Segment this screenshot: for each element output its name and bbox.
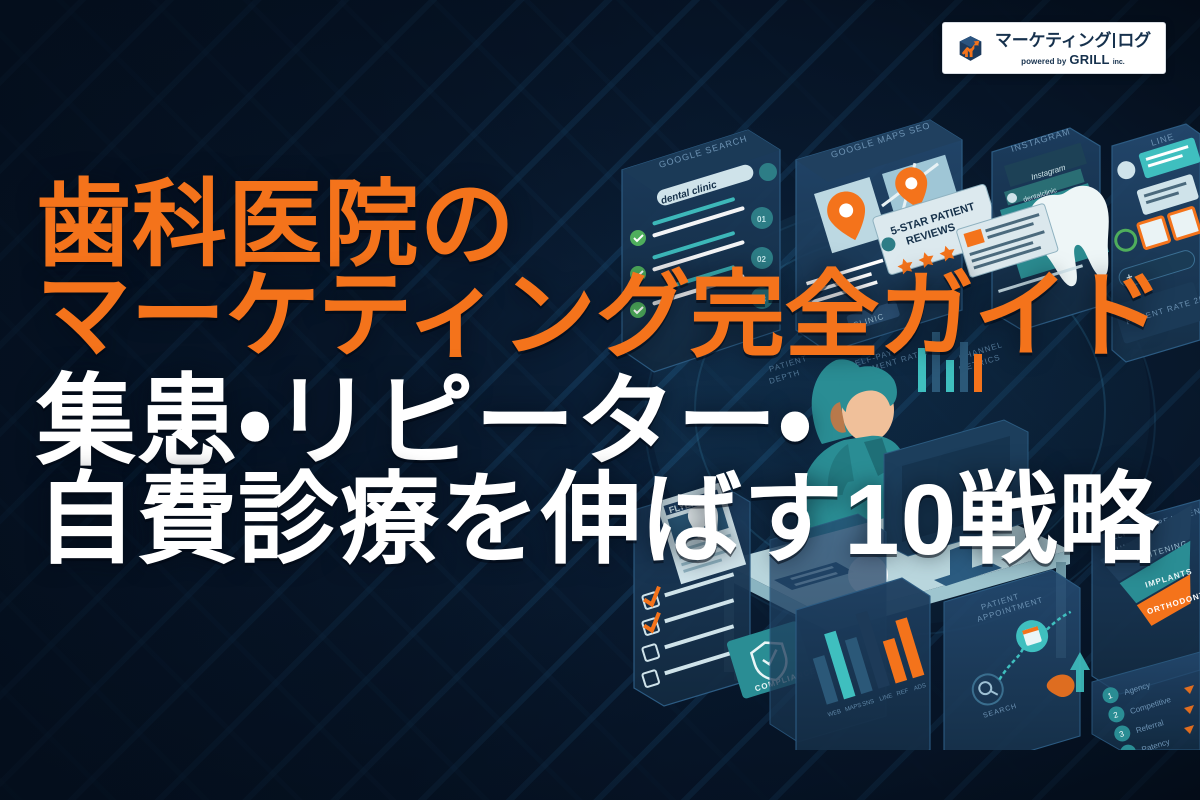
- growth-arrow-cube-icon: [955, 33, 986, 64]
- logo-separator: [1113, 33, 1115, 48]
- hero-banner: GOOGLE SEARCH dental clinic: [0, 0, 1200, 800]
- logo-inc-suffix: inc.: [1113, 59, 1125, 66]
- headline-block: 歯科医院の マーケティング完全ガイド 集患・リピーター・ 自費診療を伸ばす10戦…: [36, 176, 1186, 572]
- logo-sub-line: powered by GRILL inc.: [1021, 53, 1125, 66]
- logo-powered-by: powered by: [1021, 58, 1066, 66]
- site-logo-badge[interactable]: マーケティング ログ powered by GRILL inc.: [942, 22, 1166, 74]
- headline-line-3: 集患・リピーター・: [36, 370, 1186, 474]
- panel-patient-journey: PATIENT APPOINTMENT SEARCH: [944, 570, 1093, 750]
- panel-bar-chart: WEBMAPSSNS LINEREFADS: [796, 578, 930, 750]
- headline-line-1: 歯科医院の: [36, 176, 1186, 275]
- logo-brand: GRILL: [1069, 53, 1109, 66]
- headline-line-4: 自費診療を伸ばす10戦略: [36, 468, 1186, 572]
- headline-line-2: マーケティング完全ガイド: [36, 267, 1186, 366]
- logo-text: マーケティング ログ powered by GRILL inc.: [995, 31, 1151, 66]
- logo-main-right: ログ: [1117, 32, 1151, 49]
- logo-main-left: マーケティング: [995, 32, 1111, 49]
- logo-main-line: マーケティング ログ: [995, 31, 1151, 49]
